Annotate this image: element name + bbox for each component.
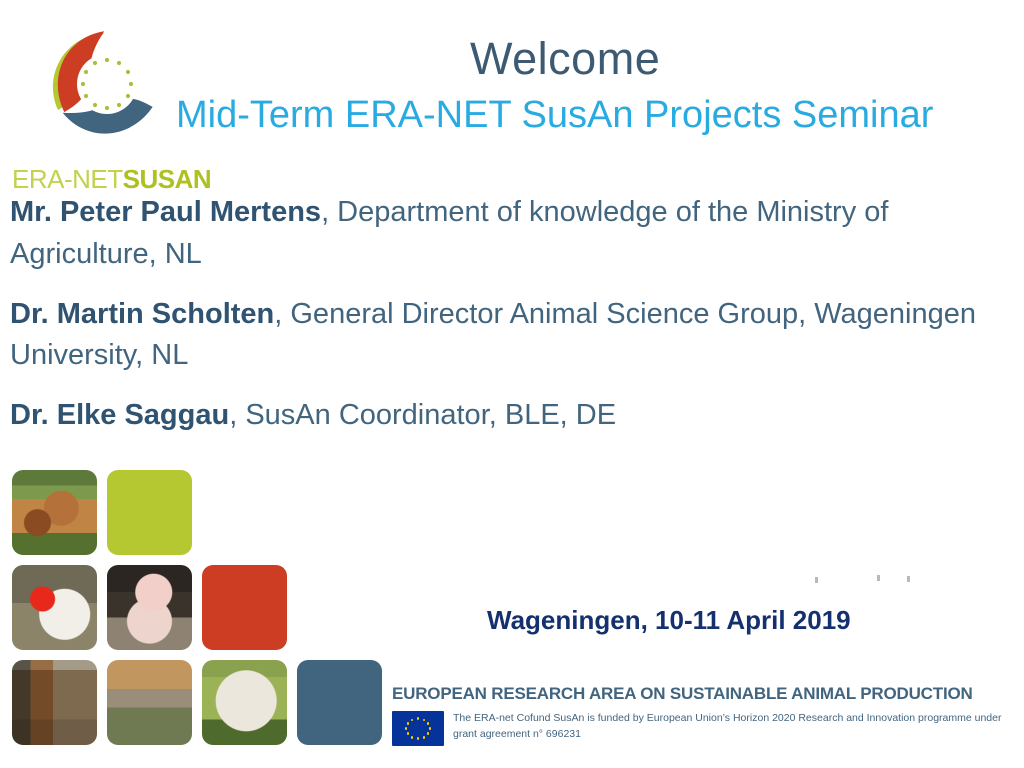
speaker-name: Dr. Martin Scholten [10, 298, 274, 330]
sheep-photo [202, 660, 287, 745]
presentation-slide: ERA-NETSUSAN Welcome Mid-Term ERA-NET Su… [0, 0, 1024, 768]
red-color-tile [202, 565, 287, 650]
footer-funding-row: The ERA-net Cofund SusAn is funded by Eu… [392, 711, 1017, 746]
speaker-name: Mr. Peter Paul Mertens [10, 196, 321, 228]
slide-footer: EUROPEAN RESEARCH AREA ON SUSTAINABLE AN… [392, 684, 1017, 746]
slide-subtitle: Mid-Term ERA-NET SusAn Projects Seminar [176, 96, 933, 134]
logo-wordmark-suffix: SUSAN [123, 164, 212, 194]
blue-color-tile [297, 660, 382, 745]
speaker-line: Mr. Peter Paul Mertens, Department of kn… [10, 192, 990, 276]
footer-title: EUROPEAN RESEARCH AREA ON SUSTAINABLE AN… [392, 684, 1017, 704]
chicken-photo [12, 565, 97, 650]
logo-wordmark-prefix: ERA-NET [12, 164, 123, 194]
event-date-location: Wageningen, 10-11 April 2019 [487, 605, 851, 636]
animal-photo-mosaic [12, 470, 352, 750]
speaker-line: Dr. Elke Saggau, SusAn Coordinator, BLE,… [10, 395, 990, 437]
footer-funding-text: The ERA-net Cofund SusAn is funded by Eu… [453, 711, 1013, 741]
slide-title-welcome: Welcome [470, 36, 660, 81]
speaker-name: Dr. Elke Saggau [10, 399, 229, 431]
eu-flag-icon [392, 711, 444, 746]
green-color-tile [107, 470, 192, 555]
logo-wordmark: ERA-NETSUSAN [12, 164, 211, 195]
speaker-line: Dr. Martin Scholten, General Director An… [10, 294, 990, 378]
logo-pinwheel-icon [32, 22, 182, 147]
speaker-list: Mr. Peter Paul Mertens, Department of kn… [10, 192, 990, 455]
speaker-role: , SusAn Coordinator, BLE, DE [229, 399, 616, 431]
cow-and-calf-photo [12, 470, 97, 555]
piglet-photo [107, 565, 192, 650]
ducks-feeding-photo [107, 660, 192, 745]
faint-artifact-marks [815, 575, 935, 587]
milking-parlour-photo [12, 660, 97, 745]
